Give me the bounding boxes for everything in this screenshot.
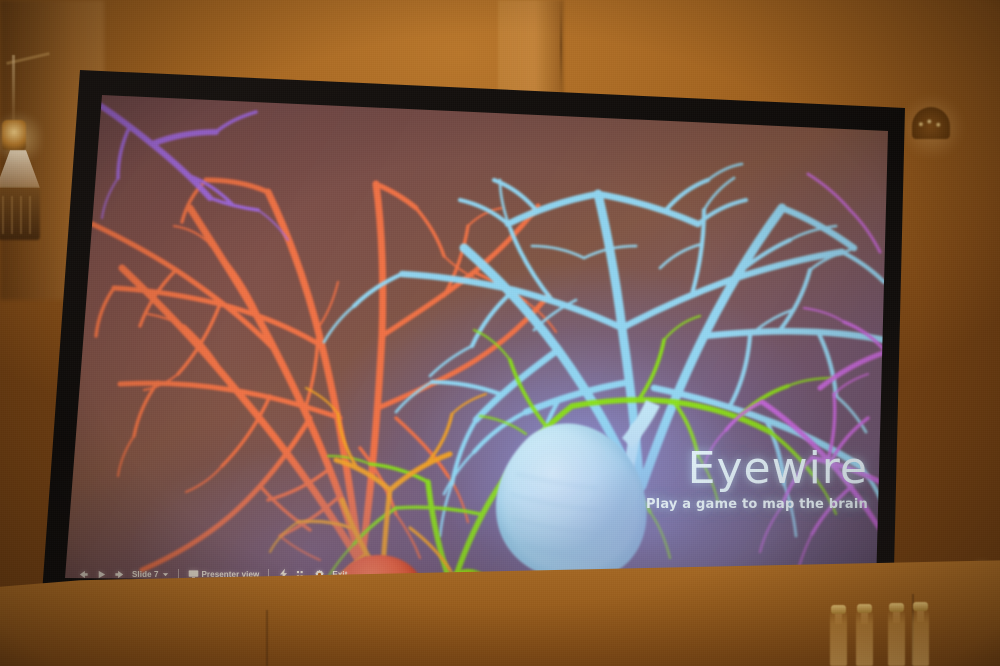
bottle-cap bbox=[831, 605, 846, 614]
bottle-cap bbox=[857, 604, 872, 613]
slide-counter-dropdown[interactable]: Slide 7 bbox=[132, 570, 169, 579]
presentation-slide: Eyewire Play a game to map the brain bbox=[60, 88, 892, 590]
eyewire-logo: Eyewire Play a game to map the brain bbox=[646, 447, 868, 512]
previous-slide-button[interactable] bbox=[78, 569, 89, 580]
toolbar-divider-1 bbox=[178, 569, 179, 580]
wall-sconce-bulbs bbox=[917, 117, 945, 133]
bottle-cap bbox=[913, 602, 928, 611]
pendant-lamp bbox=[0, 0, 60, 250]
lower-wall-seam-2 bbox=[266, 610, 268, 666]
bottle-group bbox=[826, 604, 966, 666]
photo-scene: Eyewire Play a game to map the brain bbox=[0, 0, 1000, 666]
chevron-down-icon bbox=[162, 571, 169, 578]
bottle-cap bbox=[889, 603, 904, 612]
next-slide-button[interactable] bbox=[114, 569, 125, 580]
wall-seam-upper bbox=[560, 0, 562, 92]
lamp-base-slats bbox=[2, 196, 36, 234]
slide-counter-label: Slide 7 bbox=[132, 570, 159, 579]
lamp-bulb bbox=[2, 120, 26, 150]
neuron-reconstruction-image bbox=[60, 88, 892, 590]
wall-column-upper bbox=[498, 0, 564, 96]
eyewire-tagline: Play a game to map the brain bbox=[646, 497, 868, 512]
eyewire-wordmark: Eyewire bbox=[646, 447, 868, 491]
play-button[interactable] bbox=[96, 569, 107, 580]
